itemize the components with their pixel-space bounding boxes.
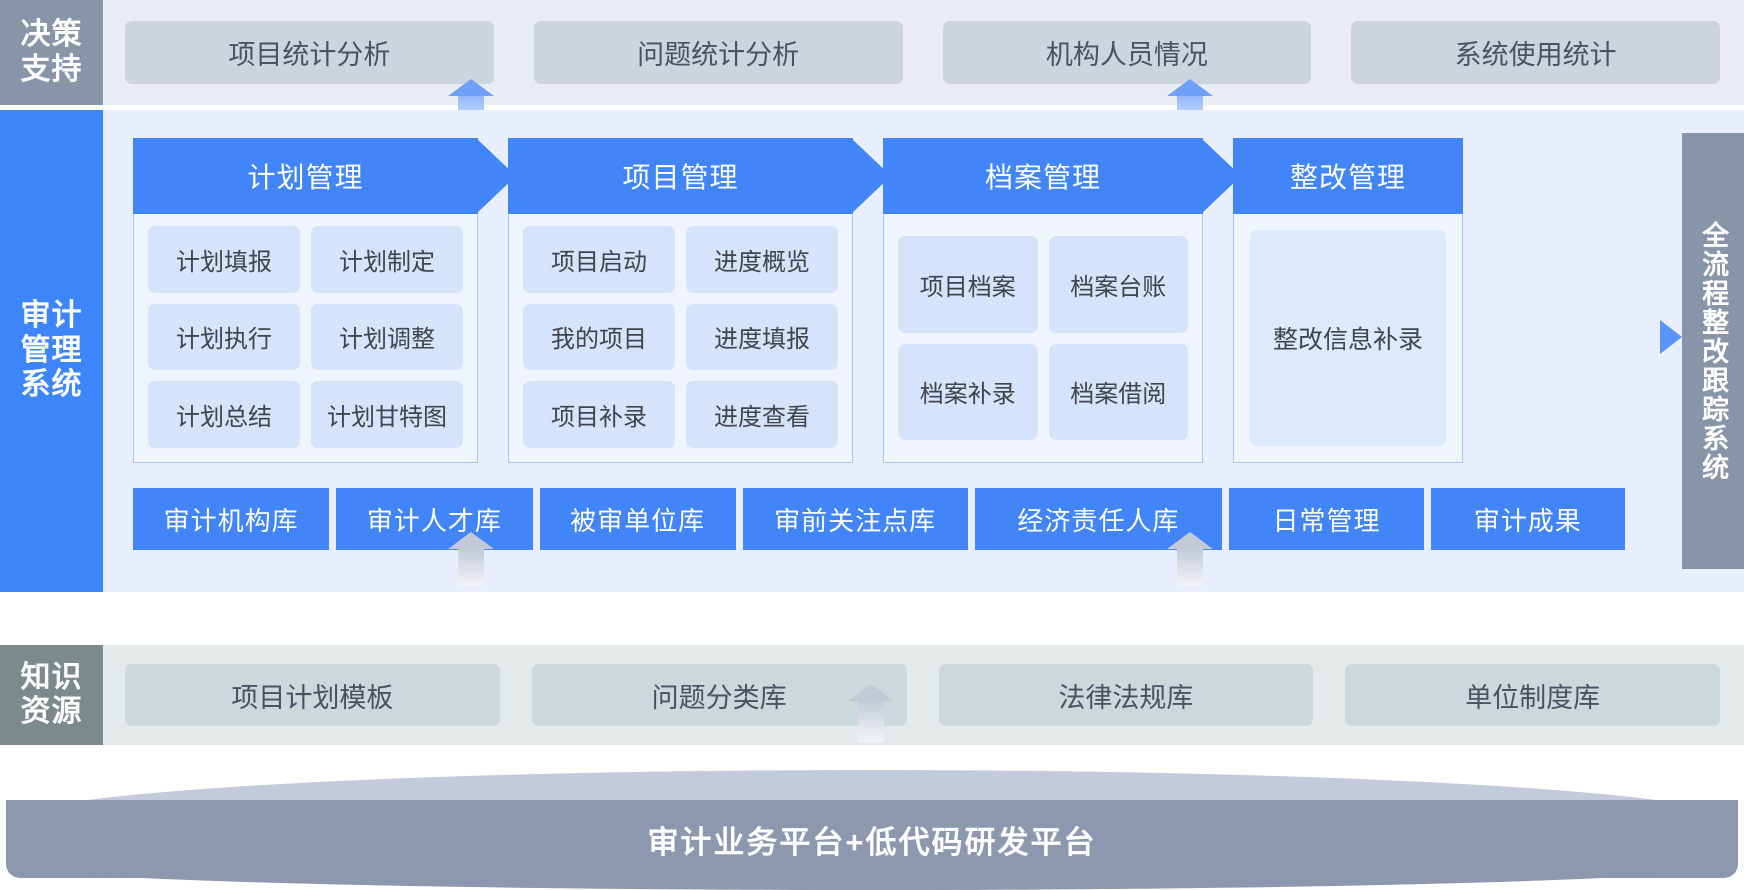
flow-item-plan-execute[interactable]: 计划执行 [148,304,300,371]
audit-management-band: 审计 管理 系统 计划管理 计划填报 计划制定 计划执行 计划调整 [0,110,1744,592]
flow-item-progress-overview[interactable]: 进度概览 [686,226,838,293]
knowledge-resources-label-line-2: 资源 [21,695,83,730]
flow-item-progress-submit[interactable]: 进度填报 [686,304,838,371]
flow-item-plan-adjust[interactable]: 计划调整 [311,304,463,371]
decision-item-issue-stats[interactable]: 问题统计分析 [534,21,903,84]
decision-item-system-usage[interactable]: 系统使用统计 [1351,21,1720,84]
repo-tile-audit-talent[interactable]: 审计人才库 [336,488,532,550]
repo-tile-audit-org[interactable]: 审计机构库 [133,488,329,550]
decision-support-label: 决策 支持 [0,0,103,105]
repo-tile-audit-results[interactable]: 审计成果 [1431,488,1625,550]
flow-item-plan-submit[interactable]: 计划填报 [148,226,300,293]
decision-support-items: 项目统计分析 问题统计分析 机构人员情况 系统使用统计 [125,0,1720,105]
flow-item-progress-view[interactable]: 进度查看 [686,381,838,448]
arrow-right-to-rectification-icon [1660,320,1682,354]
decision-support-label-line-1: 决策 [21,18,83,53]
flow-header-rectification[interactable]: 整改管理 [1233,138,1463,214]
knowledge-resources-items: 项目计划模板 问题分类库 法律法规库 单位制度库 [125,645,1720,745]
flow-item-project-supplement[interactable]: 项目补录 [523,381,675,448]
flow-header-archive-label: 档案管理 [985,156,1101,196]
decision-item-org-personnel[interactable]: 机构人员情况 [943,21,1312,84]
flow-item-archive-ledger[interactable]: 档案台账 [1049,236,1189,333]
flow-header-project-label: 项目管理 [622,156,738,196]
audit-management-label-line-1: 审计 [21,299,83,334]
flow-header-plan-label: 计划管理 [247,156,363,196]
arrow-up-to-audit-right [1177,548,1203,586]
flow-item-plan-create[interactable]: 计划制定 [311,226,463,293]
knowledge-item-laws-regulations[interactable]: 法律法规库 [939,664,1314,726]
flow-items-plan: 计划填报 计划制定 计划执行 计划调整 计划总结 计划甘特图 [133,214,478,463]
arrow-up-to-audit-left [458,548,484,586]
flow-header-archive[interactable]: 档案管理 [883,138,1203,214]
repo-tile-daily-management[interactable]: 日常管理 [1229,488,1423,550]
flow-column-plan: 计划管理 计划填报 计划制定 计划执行 计划调整 计划总结 计划甘特图 [133,138,478,463]
platform-base: 审计业务平台+低代码研发平台 [0,770,1744,890]
flow-item-plan-summary[interactable]: 计划总结 [148,381,300,448]
audit-management-label: 审计 管理 系统 [0,110,103,592]
decision-support-band: 决策 支持 项目统计分析 问题统计分析 机构人员情况 系统使用统计 [0,0,1744,105]
repo-tile-pre-audit-focus[interactable]: 审前关注点库 [743,488,968,550]
flow-items-rectification: 整改信息补录 [1233,214,1463,463]
flow-item-project-archive[interactable]: 项目档案 [898,236,1038,333]
flow-column-archive: 档案管理 项目档案 档案台账 档案补录 档案借阅 [883,138,1203,463]
flow-item-project-start[interactable]: 项目启动 [523,226,675,293]
knowledge-item-project-plan-template[interactable]: 项目计划模板 [125,664,500,726]
knowledge-item-unit-policies[interactable]: 单位制度库 [1345,664,1720,726]
flow-item-archive-borrow[interactable]: 档案借阅 [1049,344,1189,441]
flow-items-archive: 项目档案 档案台账 档案补录 档案借阅 [883,214,1203,463]
flow-column-project: 项目管理 项目启动 进度概览 我的项目 进度填报 项目补录 进度查看 [508,138,853,463]
knowledge-resources-label: 知识 资源 [0,645,103,745]
flow-items-project: 项目启动 进度概览 我的项目 进度填报 项目补录 进度查看 [508,214,853,463]
flow-column-rectification: 整改管理 整改信息补录 [1233,138,1463,463]
flow-item-rectification-info[interactable]: 整改信息补录 [1250,230,1446,446]
flow-header-project[interactable]: 项目管理 [508,138,853,214]
rectification-system-label: 全流程整改跟踪系统 [1682,133,1744,569]
decision-support-label-line-2: 支持 [21,53,83,88]
repo-tile-audited-unit[interactable]: 被审单位库 [540,488,736,550]
decision-item-project-stats[interactable]: 项目统计分析 [125,21,494,84]
flow-item-archive-supplement[interactable]: 档案补录 [898,344,1038,441]
repository-tiles: 审计机构库 审计人才库 被审单位库 审前关注点库 经济责任人库 日常管理 审计成… [133,488,1625,550]
knowledge-resources-label-line-1: 知识 [21,661,83,696]
audit-management-label-line-3: 系统 [21,368,83,403]
flow-item-my-projects[interactable]: 我的项目 [523,304,675,371]
arrow-up-to-knowledge [858,700,884,742]
process-flow: 计划管理 计划填报 计划制定 计划执行 计划调整 计划总结 计划甘特图 [133,138,1625,463]
platform-label: 审计业务平台+低代码研发平台 [647,817,1096,862]
flow-header-plan[interactable]: 计划管理 [133,138,478,214]
platform-body: 审计业务平台+低代码研发平台 [6,800,1738,878]
rectification-system-text: 全流程整改跟踪系统 [1699,221,1727,482]
flow-item-plan-gantt[interactable]: 计划甘特图 [311,381,463,448]
audit-management-label-line-2: 管理 [21,334,83,369]
architecture-diagram: 决策 支持 项目统计分析 问题统计分析 机构人员情况 系统使用统计 审计 管理 … [0,0,1744,890]
flow-header-rectification-label: 整改管理 [1290,156,1406,196]
audit-management-body: 计划管理 计划填报 计划制定 计划执行 计划调整 计划总结 计划甘特图 [125,110,1633,592]
